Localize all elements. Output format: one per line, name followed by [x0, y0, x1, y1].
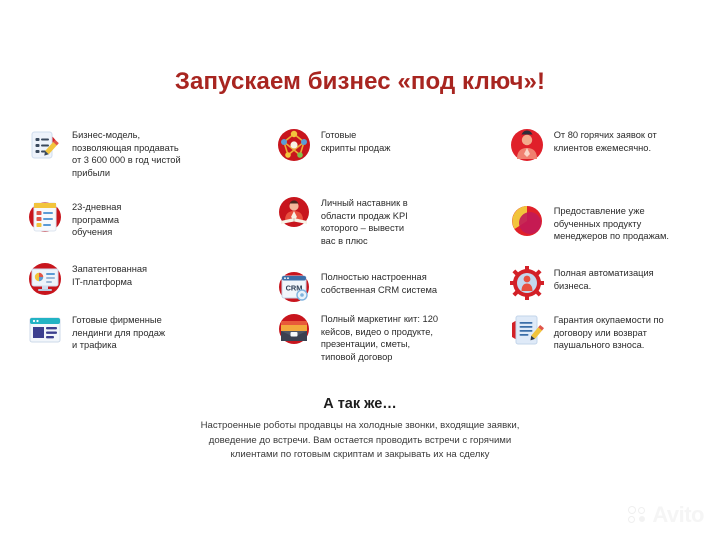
- avito-watermark: Avito: [628, 504, 704, 526]
- feature-column-1: Бизнес-модель, позволяющая продавать от …: [0, 128, 261, 376]
- feature-item[interactable]: Готовые фирменные лендинги для продаж и …: [28, 313, 238, 352]
- desktop-monitor-icon: [28, 262, 62, 296]
- feature-text: 23-дневная программа обучения: [72, 200, 121, 239]
- avito-dots-logo-icon: [628, 506, 648, 524]
- avito-wordmark: Avito: [652, 504, 704, 526]
- network-nodes-icon: [277, 128, 311, 162]
- pie-chart-icon: [510, 204, 544, 238]
- feature-text: Полный маркетинг кит: 120 кейсов, видео …: [321, 312, 438, 363]
- feature-column-3: От 80 горячих заявок от клиентов ежемеся…: [510, 128, 720, 376]
- feature-item[interactable]: Гарантия окупаемости по договору или воз…: [510, 313, 720, 352]
- gear-person-icon: [510, 266, 544, 300]
- feature-text: Личный наставник в области продаж KPI ко…: [321, 196, 408, 247]
- feature-text: Гарантия окупаемости по договору или воз…: [554, 313, 664, 352]
- feature-text: Готовые скрипты продаж: [321, 128, 391, 154]
- feature-text: Бизнес-модель, позволяющая продавать от …: [72, 128, 181, 179]
- feature-item[interactable]: Личный наставник в области продаж KPI ко…: [277, 196, 492, 247]
- feature-text: От 80 горячих заявок от клиентов ежемеся…: [554, 128, 657, 154]
- page-title: Запускаем бизнес «под ключ»!: [0, 68, 720, 96]
- crm-window-icon: CRM: [277, 270, 311, 304]
- feature-item[interactable]: 23-дневная программа обучения: [28, 200, 238, 239]
- feature-item[interactable]: Готовые скрипты продаж: [277, 128, 492, 162]
- calendar-checklist-icon: [28, 200, 62, 234]
- person-avatar-icon: [510, 128, 544, 162]
- feature-column-2: Готовые скрипты продаж Личный наставник …: [261, 128, 510, 376]
- feature-item[interactable]: Бизнес-модель, позволяющая продавать от …: [28, 128, 238, 179]
- feature-item[interactable]: Полная автоматизация бизнеса.: [510, 266, 720, 300]
- feature-item[interactable]: Запатентованная IT-платформа: [28, 262, 238, 296]
- feature-item[interactable]: CRM Полностью настроенная собственная CR…: [277, 270, 492, 304]
- feature-item[interactable]: От 80 горячих заявок от клиентов ежемеся…: [510, 128, 720, 162]
- mentor-teacher-icon: [277, 196, 311, 230]
- feature-text: Полная автоматизация бизнеса.: [554, 266, 654, 292]
- features-grid: Бизнес-модель, позволяющая продавать от …: [0, 128, 720, 376]
- contract-pen-icon: [510, 313, 544, 347]
- feature-text: Полностью настроенная собственная CRM си…: [321, 270, 437, 296]
- footer-paragraph: Настроенные роботы продавцы на холодные …: [130, 419, 590, 463]
- feature-text: Готовые фирменные лендинги для продаж и …: [72, 313, 165, 352]
- footer-heading: А так же…: [0, 396, 720, 412]
- document-pencil-icon: [28, 128, 62, 162]
- briefcase-open-icon: [277, 312, 311, 346]
- feature-item[interactable]: Полный маркетинг кит: 120 кейсов, видео …: [277, 312, 492, 363]
- feature-text: Предоставление уже обученных продукту ме…: [554, 204, 669, 243]
- feature-item[interactable]: Предоставление уже обученных продукту ме…: [510, 204, 720, 243]
- promo-banner: Запускаем бизнес «под ключ»!: [0, 0, 720, 540]
- feature-text: Запатентованная IT-платформа: [72, 262, 147, 288]
- landing-page-browser-icon: [28, 313, 62, 347]
